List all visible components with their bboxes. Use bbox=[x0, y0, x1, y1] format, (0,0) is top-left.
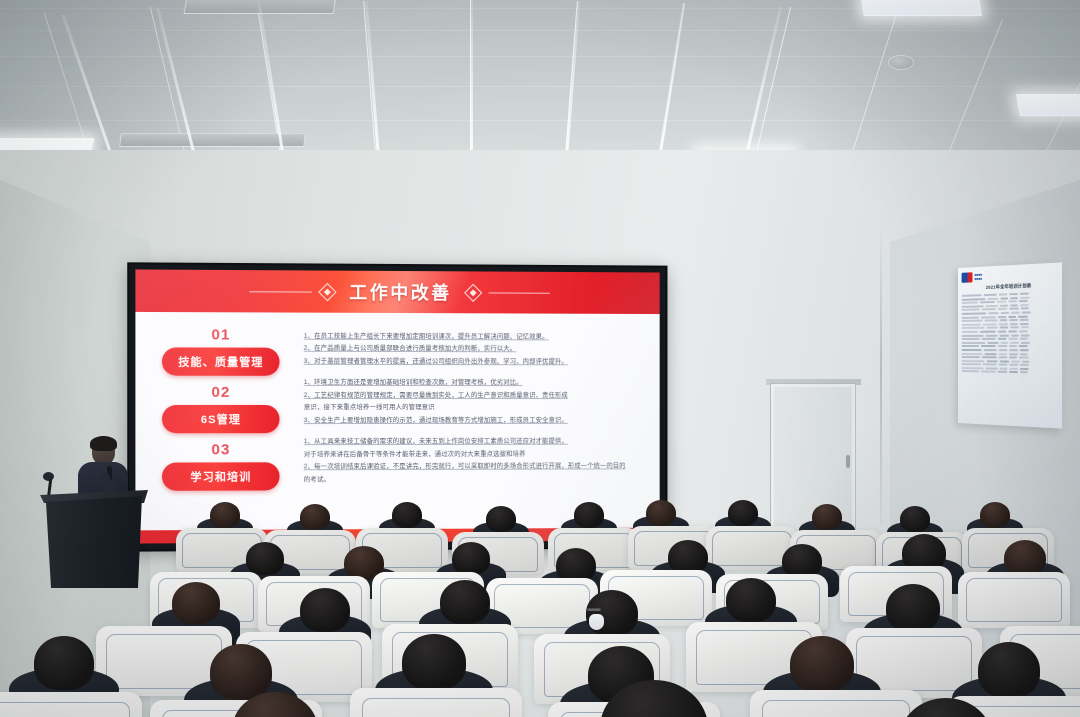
poster-table-cell bbox=[983, 323, 997, 325]
poster-table-cell bbox=[998, 371, 1008, 373]
poster-table-cell bbox=[962, 316, 979, 318]
poster-table-cell bbox=[1009, 293, 1018, 295]
poster-table-cell bbox=[981, 371, 996, 373]
poster-table-cell bbox=[980, 331, 996, 333]
poster-table-cell bbox=[1000, 304, 1009, 306]
audience-chair bbox=[350, 688, 522, 717]
poster-table-cell bbox=[1021, 334, 1030, 336]
poster-table-cell bbox=[1008, 315, 1016, 317]
poster-table-cell bbox=[981, 345, 996, 347]
poster-table-row bbox=[962, 353, 1058, 356]
poster-table-cell bbox=[962, 312, 987, 315]
poster-table-cell bbox=[982, 338, 996, 340]
poster-table-cell bbox=[962, 309, 980, 311]
poster-table-cell bbox=[999, 353, 1008, 355]
section-text-block-02: 1、环境卫生方面还是要增加基础培训和检查次数，对管理考核，优劣对比。2、工艺纪律… bbox=[304, 377, 646, 427]
poster-table-cell bbox=[1011, 334, 1019, 336]
poster-table-cell bbox=[962, 356, 980, 358]
poster-title: 2021年全年培训计划表 bbox=[962, 282, 1058, 292]
poster-table-cell bbox=[1020, 293, 1029, 295]
poster-table-row bbox=[962, 341, 1058, 343]
poster-table-cell bbox=[998, 338, 1007, 340]
poster-table-cell bbox=[962, 360, 985, 362]
poster-table-cell bbox=[1011, 312, 1020, 314]
poster-table-cell bbox=[962, 338, 980, 340]
poster-table-cell bbox=[1009, 308, 1019, 310]
audience-member-head bbox=[452, 542, 490, 575]
poster-table-cell bbox=[998, 316, 1007, 318]
audience-member-head bbox=[402, 634, 466, 690]
poster-table-cell bbox=[998, 308, 1008, 310]
slide-text-line: 1、环境卫生方面还是要增加基础培训和检查次数，对管理考核，优劣对比。 bbox=[304, 377, 646, 390]
poster-table-cell bbox=[1000, 327, 1009, 329]
audience-member-head bbox=[646, 500, 676, 526]
slide-section-02: 026S管理 bbox=[144, 384, 298, 434]
poster-table-cell bbox=[962, 371, 979, 373]
poster-table-cell bbox=[1009, 364, 1018, 366]
poster-table-cell bbox=[1020, 323, 1029, 325]
poster-table-cell bbox=[998, 330, 1007, 332]
poster-table-cell bbox=[985, 367, 997, 369]
poster-table-cell bbox=[1010, 342, 1019, 344]
poster-table-cell bbox=[1009, 356, 1017, 358]
poster-table-cell bbox=[1000, 367, 1008, 369]
poster-table-cell bbox=[986, 360, 997, 362]
poster-table-row bbox=[962, 356, 1058, 359]
slide-title: 工作中改善 bbox=[343, 279, 457, 306]
section-pill-label: 技能、质量管理 bbox=[162, 347, 280, 375]
poster-table-cell bbox=[962, 323, 981, 325]
audience-member-head bbox=[668, 540, 708, 574]
poster-table-cell bbox=[1020, 364, 1029, 366]
audience-member-head bbox=[726, 578, 776, 622]
audience-member-head bbox=[300, 588, 350, 632]
poster-table-cell bbox=[962, 327, 985, 329]
audience-member-head bbox=[782, 544, 822, 578]
poster-table-cell bbox=[1021, 342, 1030, 344]
poster-table-cell bbox=[1018, 315, 1028, 317]
poster-table-cell bbox=[1009, 319, 1018, 321]
poster-table-cell bbox=[962, 320, 983, 322]
poster-table-cell bbox=[984, 294, 997, 296]
poster-table-cell bbox=[1009, 353, 1018, 355]
audience-chair bbox=[750, 690, 922, 717]
poster-table-cell bbox=[1020, 319, 1029, 321]
audience-member-head bbox=[728, 500, 758, 526]
poster-table-cell bbox=[985, 305, 997, 307]
diamond-ornament-left-icon bbox=[318, 282, 336, 300]
poster-table-cell bbox=[998, 345, 1008, 347]
face-mask-icon bbox=[589, 614, 605, 630]
poster-table-cell bbox=[962, 334, 984, 336]
poster-table-cell bbox=[962, 298, 986, 301]
audience-member-head bbox=[900, 506, 930, 532]
poster-table-cell bbox=[1001, 342, 1009, 344]
poster-table-cell bbox=[999, 293, 1008, 295]
audience-member-head bbox=[980, 502, 1010, 528]
poster-table bbox=[962, 291, 1058, 374]
diamond-ornament-right-icon bbox=[464, 283, 482, 301]
poster-table-row bbox=[962, 322, 1058, 325]
poster-table-row bbox=[962, 326, 1058, 329]
poster-table-cell bbox=[1011, 360, 1020, 362]
poster-table-cell bbox=[1022, 360, 1030, 362]
poster-table-cell bbox=[1022, 311, 1031, 313]
poster-table-cell bbox=[999, 323, 1009, 325]
poster-table-cell bbox=[962, 305, 984, 308]
audience-seating-area bbox=[0, 430, 1080, 717]
poster-table-cell bbox=[1000, 360, 1010, 362]
poster-table-cell bbox=[1020, 338, 1028, 340]
poster-logo-text: ■■■■■■■■ bbox=[974, 273, 982, 282]
poster-table-cell bbox=[984, 349, 997, 351]
poster-table-row bbox=[962, 360, 1058, 363]
poster-table-cell bbox=[997, 301, 1007, 303]
poster-table-cell bbox=[1021, 326, 1029, 328]
poster-table-cell bbox=[1020, 353, 1028, 355]
poster-table-cell bbox=[988, 312, 998, 314]
poster-table-cell bbox=[983, 364, 997, 366]
audience-chair bbox=[958, 572, 1070, 628]
slide-text-line: 1、在员工技能上生产组长下来要增加定期培训课次，提升员工解决问题、记忆效果。 bbox=[304, 331, 646, 344]
audience-member-head bbox=[210, 644, 272, 700]
poster-table-cell bbox=[985, 334, 997, 336]
poster-table-cell bbox=[962, 302, 978, 305]
ceiling-light-5 bbox=[860, 0, 982, 16]
slide-title-ornament-group: 工作中改善 bbox=[250, 278, 550, 305]
poster-table-cell bbox=[962, 331, 978, 333]
poster-table-cell bbox=[1020, 304, 1029, 306]
poster-table-cell bbox=[962, 345, 979, 347]
audience-member-head bbox=[392, 502, 422, 528]
poster-table-cell bbox=[999, 364, 1008, 366]
poster-table-row bbox=[962, 330, 1058, 333]
poster-table-row bbox=[962, 334, 1058, 337]
poster-table-cell bbox=[982, 356, 997, 358]
audience-member-head bbox=[790, 636, 854, 692]
poster-table-cell bbox=[1009, 349, 1018, 351]
poster-table-cell bbox=[962, 342, 986, 344]
title-rule-right bbox=[488, 292, 549, 293]
poster-table-cell bbox=[987, 297, 998, 299]
slide-header-band: 工作中改善 bbox=[135, 269, 659, 314]
audience-member-head bbox=[1004, 540, 1046, 576]
poster-table-row bbox=[962, 338, 1058, 341]
poster-table-cell bbox=[1000, 319, 1008, 321]
audience-chair bbox=[0, 692, 142, 717]
poster-table-cell bbox=[1009, 368, 1018, 370]
poster-table-cell bbox=[1019, 330, 1028, 332]
poster-table-cell bbox=[962, 353, 983, 355]
poster-table-row bbox=[962, 345, 1058, 347]
slide-text-line: 2、工艺纪律有规范的管理规定，需要尽量做到实处，工人的生产意识和质量意识、责任形… bbox=[304, 390, 646, 403]
poster-table-cell bbox=[1010, 304, 1018, 306]
poster-table-cell bbox=[1010, 327, 1019, 329]
ceiling-light-6 bbox=[1016, 94, 1080, 116]
audience-member-head bbox=[34, 636, 94, 690]
poster-table-cell bbox=[962, 294, 982, 297]
poster-table-cell bbox=[962, 363, 981, 365]
audience-member-head bbox=[978, 642, 1040, 698]
poster-table-cell bbox=[1019, 345, 1028, 347]
audience-member-head bbox=[486, 506, 516, 532]
slide-text-line: 意识，接下来重点培养一线可用人的管理意识 bbox=[304, 402, 646, 415]
poster-table-cell bbox=[962, 367, 984, 369]
poster-table-cell bbox=[987, 342, 998, 344]
ceiling-speaker-icon bbox=[888, 55, 914, 70]
poster-table-cell bbox=[982, 308, 996, 310]
poster-table-cell bbox=[1020, 372, 1028, 374]
poster-table-cell bbox=[980, 301, 995, 303]
poster-table-cell bbox=[986, 327, 997, 329]
poster-table-row bbox=[962, 371, 1058, 375]
audience-member-head bbox=[574, 502, 604, 528]
audience-member-head bbox=[210, 502, 240, 528]
poster-table-cell bbox=[1008, 330, 1017, 332]
audience-member-head bbox=[812, 504, 842, 530]
poster-table-cell bbox=[1010, 297, 1018, 299]
poster-table-cell bbox=[1020, 368, 1029, 370]
section-number: 01 bbox=[144, 326, 298, 344]
poster-table-cell bbox=[1001, 297, 1009, 299]
room-photo-scene: ■■■■■■■■ 2021年全年培训计划表 工作中改善 01技能、质量管理026… bbox=[0, 0, 1080, 717]
wall-training-plan-poster: ■■■■■■■■ 2021年全年培训计划表 bbox=[958, 262, 1062, 428]
poster-logo: ■■■■■■■■ bbox=[962, 268, 1058, 283]
poster-table-cell bbox=[1020, 296, 1030, 298]
poster-table-cell bbox=[962, 349, 982, 351]
company-logo-icon bbox=[962, 272, 973, 283]
poster-table-cell bbox=[1019, 300, 1028, 302]
poster-table-cell bbox=[981, 316, 996, 318]
eyeglasses-icon bbox=[587, 608, 601, 611]
poster-table-cell bbox=[985, 353, 997, 355]
audience-member-head bbox=[440, 580, 490, 624]
poster-table-cell bbox=[1001, 312, 1010, 314]
slide-text-line: 3、对于基层管理者管理水平的提高，还通过公司组织向外出外参观、学习、内部评优提升… bbox=[304, 356, 646, 369]
poster-table-cell bbox=[1008, 300, 1017, 302]
poster-table-cell bbox=[1009, 345, 1017, 347]
slide-text-line: 3、安全生产上要增加隐患操作的示范，通过现场教育等方式增加施工，形成员工安全意识… bbox=[304, 415, 646, 428]
poster-table-cell bbox=[1010, 323, 1018, 325]
title-rule-left bbox=[250, 291, 313, 292]
poster-table-cell bbox=[999, 349, 1008, 351]
section-number: 02 bbox=[144, 384, 298, 401]
slide-section-01: 01技能、质量管理 bbox=[144, 326, 298, 376]
poster-table-cell bbox=[999, 356, 1008, 358]
slide-text-line: 2、在产品质量上与公司质量部联合进行质量考核加大的判断，实行以大。 bbox=[304, 343, 646, 356]
poster-table-cell bbox=[1008, 338, 1018, 340]
poster-table-cell bbox=[1021, 308, 1029, 310]
audience-member-head bbox=[300, 504, 330, 530]
poster-table-cell bbox=[1020, 349, 1029, 351]
audience-member-head bbox=[246, 542, 284, 575]
section-text-block-01: 1、在员工技能上生产组长下来要增加定期培训课次，提升员工解决问题、记忆效果。2、… bbox=[304, 331, 646, 369]
poster-table-row bbox=[962, 349, 1058, 351]
poster-table-cell bbox=[985, 319, 998, 321]
poster-table-cell bbox=[1000, 334, 1010, 336]
poster-table-cell bbox=[1019, 357, 1029, 359]
audience-member-head bbox=[886, 584, 940, 632]
audience-member-head bbox=[172, 582, 220, 624]
poster-table-cell bbox=[1009, 371, 1018, 373]
